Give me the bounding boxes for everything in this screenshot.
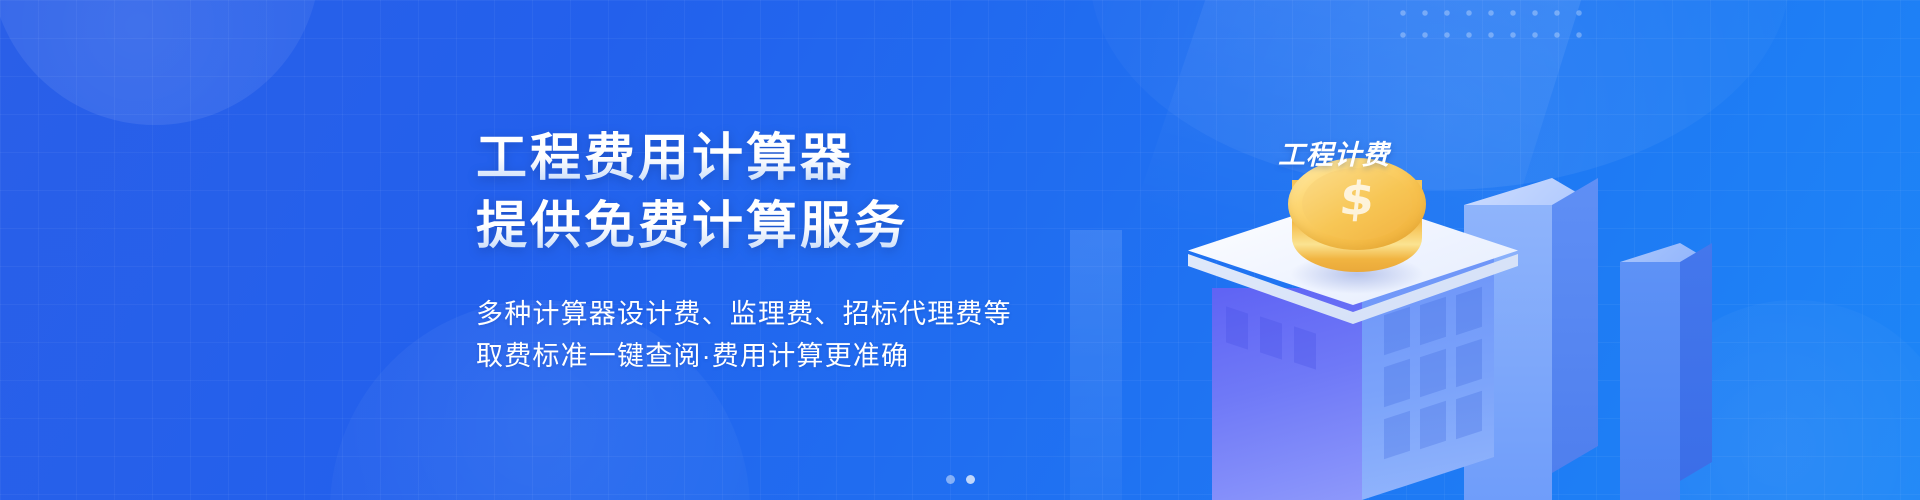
headline-line-1: 工程费用计算器 — [476, 128, 1236, 188]
subheadline-group: 多种计算器设计费、监理费、招标代理费等 取费标准一键查阅·费用计算更准确 — [476, 294, 1236, 378]
subheadline-line-1: 多种计算器设计费、监理费、招标代理费等 — [476, 294, 1236, 336]
right-tower-side — [1552, 178, 1598, 473]
promo-banner: $ 工程计费 工程费用计算器 提供免费计算服务 多种计算器设计费、监理费、招标代… — [0, 0, 1920, 500]
illustration-badge-label: 工程计费 — [1278, 133, 1390, 172]
coin-inner-face: $ — [1302, 168, 1412, 240]
carousel-dot-1[interactable] — [946, 475, 955, 484]
decorative-circle-top-left — [0, 0, 320, 125]
headline-line-2: 提供免费计算服务 — [476, 196, 1236, 256]
carousel-dot-2[interactable] — [966, 475, 975, 484]
banner-copy: 工程费用计算器 提供免费计算服务 多种计算器设计费、监理费、招标代理费等 取费标… — [476, 128, 1236, 378]
dollar-sign-icon: $ — [1300, 176, 1415, 222]
subheadline-line-2: 取费标准一键查阅·费用计算更准确 — [476, 336, 1236, 378]
gold-coin-icon: $ — [1286, 158, 1428, 298]
carousel-indicators[interactable] — [0, 475, 1920, 484]
back-tower-front — [1620, 262, 1680, 500]
back-tower-side — [1680, 243, 1712, 481]
